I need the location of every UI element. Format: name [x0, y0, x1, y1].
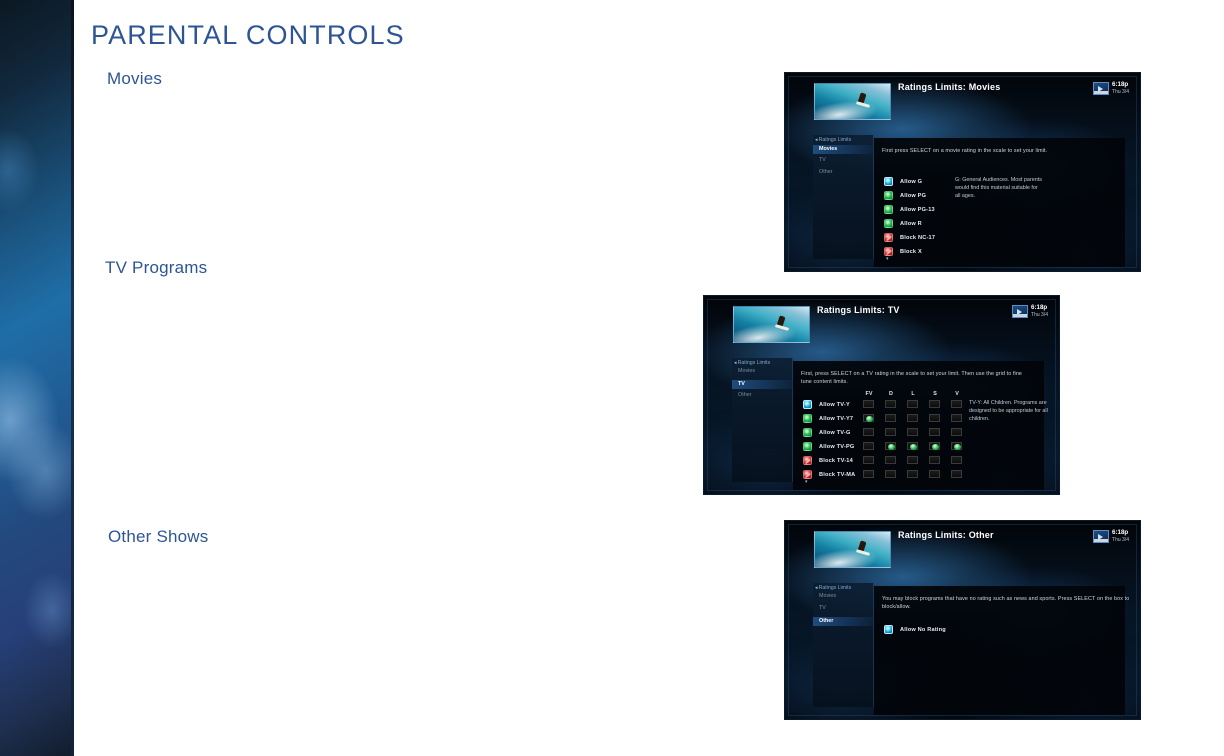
rating-state-icon[interactable] [884, 191, 893, 200]
section-heading-other-shows: Other Shows [108, 527, 208, 547]
rating-row[interactable]: Allow TV-PG [803, 441, 854, 452]
screenshot-ratings-limits-other: Ratings Limits: Other 6:18p Thu 3/4 ◂Rat… [784, 520, 1141, 720]
video-preview-thumbnail [814, 83, 891, 120]
sidebar-item-tv[interactable]: TV [732, 380, 794, 389]
rating-state-icon[interactable] [884, 625, 893, 634]
rating-label: Allow PG [900, 193, 926, 199]
rating-row[interactable]: Allow TV-Y7 [803, 413, 853, 424]
rating-state-icon[interactable] [884, 233, 893, 242]
video-preview-thumbnail [733, 306, 810, 343]
grid-cell-on-icon [932, 444, 939, 451]
sidebar-item-other[interactable]: Other [819, 169, 873, 175]
rating-state-icon[interactable] [803, 414, 812, 423]
rating-row[interactable]: Allow G [884, 176, 922, 187]
rating-description: G: General Audiences. Most parents would… [955, 177, 1043, 200]
rating-label: Block NC-17 [900, 235, 935, 241]
grid-cell[interactable] [863, 400, 874, 408]
grid-column-header: FV [864, 391, 874, 397]
grid-cell[interactable] [951, 400, 962, 408]
provider-logo-icon [1093, 82, 1109, 95]
rating-row[interactable]: Allow R [884, 218, 922, 229]
tv-ui-tv: Ratings Limits: TV 6:18p Thu 3/4 ◂Rating… [704, 296, 1059, 494]
sidebar-item-movies[interactable]: Movies [813, 145, 875, 154]
rating-row[interactable]: Allow TV-Y [803, 399, 850, 410]
grid-cell[interactable] [951, 456, 962, 464]
rating-row[interactable]: Block TV-MA [803, 469, 855, 480]
ui-sidebar [732, 358, 793, 482]
rating-description: TV-Y: All Children. Programs are designe… [969, 400, 1053, 423]
section-heading-tv-programs: TV Programs [105, 258, 207, 278]
grid-cell[interactable] [951, 428, 962, 436]
rating-state-icon[interactable] [803, 470, 812, 479]
back-caret-icon: ◂ [815, 585, 818, 591]
grid-cell[interactable] [907, 456, 918, 464]
rating-state-icon[interactable] [803, 400, 812, 409]
rating-row[interactable]: Block NC-17 [884, 232, 935, 243]
sidebar-item-other[interactable]: Other [813, 617, 875, 626]
grid-cell[interactable] [951, 442, 962, 450]
clock-widget: 6:18p Thu 3/4 [1093, 530, 1129, 543]
rating-row[interactable]: Block X [884, 246, 922, 257]
wave-graphic [733, 312, 810, 343]
grid-cell[interactable] [929, 456, 940, 464]
wave-graphic [814, 89, 891, 120]
grid-cell[interactable] [907, 442, 918, 450]
screenshot-ratings-limits-movies: Ratings Limits: Movies 6:18p Thu 3/4 ◂Ra… [784, 72, 1141, 272]
scroll-down-caret-icon[interactable]: ▾ [805, 479, 808, 485]
grid-cell[interactable] [863, 442, 874, 450]
tv-ui-other: Ratings Limits: Other 6:18p Thu 3/4 ◂Rat… [785, 521, 1140, 719]
rating-state-icon[interactable] [803, 442, 812, 451]
grid-cell[interactable] [907, 428, 918, 436]
clock-date: Thu 3/4 [1112, 89, 1129, 96]
rating-state-icon[interactable] [884, 177, 893, 186]
rating-label: Allow G [900, 179, 922, 185]
wave-graphic [814, 537, 891, 568]
rating-state-icon[interactable] [803, 456, 812, 465]
ui-sidebar [813, 583, 874, 707]
rating-row[interactable]: Block TV-14 [803, 455, 853, 466]
video-preview-thumbnail [814, 531, 891, 568]
grid-cell[interactable] [885, 456, 896, 464]
rating-state-icon[interactable] [884, 219, 893, 228]
sidebar-header-label: Ratings Limits [819, 137, 852, 143]
grid-cell[interactable] [863, 414, 874, 422]
screenshot-ratings-limits-tv: Ratings Limits: TV 6:18p Thu 3/4 ◂Rating… [703, 295, 1060, 495]
clock-date: Thu 3/4 [1031, 312, 1048, 319]
sidebar-item-other[interactable]: Other [738, 392, 792, 398]
rating-label: Allow TV-Y [819, 402, 850, 408]
grid-cell[interactable] [929, 442, 940, 450]
grid-column-header: D [886, 391, 896, 397]
ui-screen-title: Ratings Limits: Movies [898, 82, 1000, 92]
instruction-text: First, press SELECT on a TV rating in th… [801, 370, 1026, 386]
rating-label: Allow R [900, 221, 922, 227]
sidebar-header: ◂Ratings Limits [734, 360, 794, 366]
slide-page: PARENTAL CONTROLS Movies TV Programs Oth… [0, 0, 1224, 756]
provider-logo-icon [1093, 530, 1109, 543]
rating-label: Block X [900, 249, 922, 255]
clock-time: 6:18p [1031, 305, 1048, 312]
clock-time: 6:18p [1112, 530, 1129, 537]
sidebar-header-label: Ratings Limits [738, 360, 771, 366]
rating-label: Allow No Rating [900, 627, 946, 633]
grid-cell[interactable] [929, 400, 940, 408]
grid-cell[interactable] [907, 414, 918, 422]
grid-cell[interactable] [951, 470, 962, 478]
grid-cell[interactable] [863, 428, 874, 436]
rating-label: Allow PG-13 [900, 207, 935, 213]
grid-cell-on-icon [866, 416, 873, 423]
grid-cell[interactable] [885, 442, 896, 450]
rating-state-icon[interactable] [884, 205, 893, 214]
sidebar-item-movies[interactable]: Movies [738, 368, 792, 374]
clock-date: Thu 3/4 [1112, 537, 1129, 544]
grid-cell[interactable] [863, 470, 874, 478]
instruction-text: First press SELECT on a movie rating in … [882, 147, 1132, 155]
rating-label: Block TV-MA [819, 472, 855, 478]
rating-label: Allow TV-Y7 [819, 416, 853, 422]
ui-screen-title: Ratings Limits: Other [898, 530, 994, 540]
grid-cell[interactable] [929, 470, 940, 478]
rating-row[interactable]: Allow PG-13 [884, 204, 935, 215]
clock-time: 6:18p [1112, 82, 1129, 89]
rating-label: Allow TV-PG [819, 444, 854, 450]
left-bar-edge [71, 0, 74, 756]
rating-label: Block TV-14 [819, 458, 853, 464]
rating-state-icon[interactable] [803, 428, 812, 437]
sidebar-header: ◂Ratings Limits [815, 137, 875, 143]
rating-state-icon[interactable] [884, 247, 893, 256]
grid-cell-on-icon [888, 444, 895, 451]
rating-row[interactable]: Allow PG [884, 190, 926, 201]
page-title: PARENTAL CONTROLS [91, 20, 405, 51]
tv-ui-movies: Ratings Limits: Movies 6:18p Thu 3/4 ◂Ra… [785, 73, 1140, 271]
clock-widget: 6:18p Thu 3/4 [1093, 82, 1129, 95]
grid-cell[interactable] [951, 414, 962, 422]
grid-column-header: S [930, 391, 940, 397]
rating-row[interactable]: Allow No Rating [884, 624, 946, 635]
sidebar-item-tv[interactable]: TV [819, 157, 873, 163]
scroll-down-caret-icon[interactable]: ▾ [886, 256, 889, 262]
sidebar-item-tv[interactable]: TV [819, 605, 873, 611]
back-caret-icon: ◂ [815, 137, 818, 143]
sidebar-header-label: Ratings Limits [819, 585, 852, 591]
grid-cell[interactable] [907, 400, 918, 408]
grid-cell[interactable] [885, 414, 896, 422]
grid-column-header: L [908, 391, 918, 397]
grid-cell[interactable] [885, 470, 896, 478]
grid-cell[interactable] [929, 414, 940, 422]
grid-column-header: V [952, 391, 962, 397]
section-heading-movies: Movies [107, 69, 162, 89]
grid-cell[interactable] [885, 400, 896, 408]
grid-cell-on-icon [910, 444, 917, 451]
sidebar-header: ◂Ratings Limits [815, 585, 875, 591]
grid-cell[interactable] [863, 456, 874, 464]
rating-row[interactable]: Allow TV-G [803, 427, 851, 438]
decorative-left-gradient-bar [0, 0, 73, 756]
back-caret-icon: ◂ [734, 360, 737, 366]
grid-cell[interactable] [907, 470, 918, 478]
rating-label: Allow TV-G [819, 430, 851, 436]
ui-screen-title: Ratings Limits: TV [817, 305, 900, 315]
clock-widget: 6:18p Thu 3/4 [1012, 305, 1048, 318]
sidebar-item-movies[interactable]: Movies [819, 593, 873, 599]
instruction-text: You may block programs that have no rati… [882, 595, 1134, 611]
grid-cell[interactable] [885, 428, 896, 436]
provider-logo-icon [1012, 305, 1028, 318]
grid-cell[interactable] [929, 428, 940, 436]
grid-cell-on-icon [954, 444, 961, 451]
